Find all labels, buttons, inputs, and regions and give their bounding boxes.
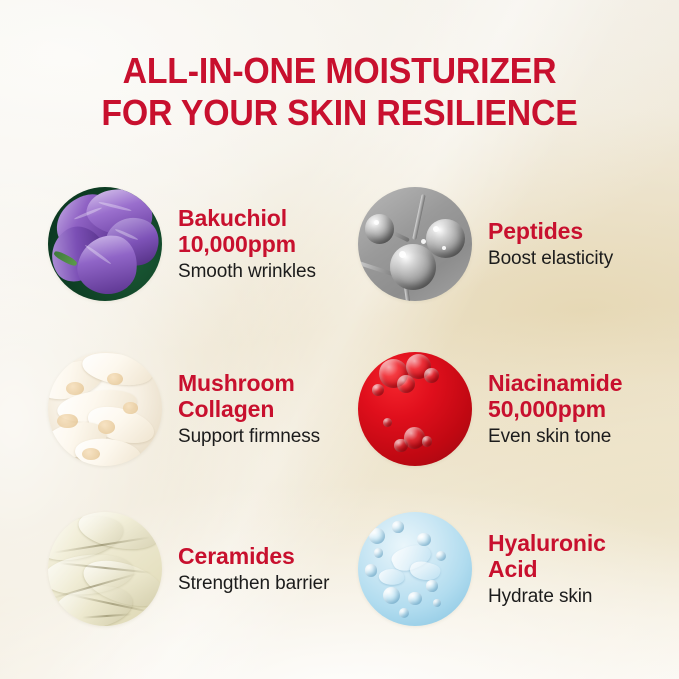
ingredient-item-peptides: Peptides Boost elasticity <box>358 187 613 301</box>
bakuchiol-text-block: Bakuchiol 10,000ppm Smooth wrinkles <box>178 205 316 284</box>
hyaluronic-acid-thumbnail <box>358 512 472 626</box>
ingredient-item-mushroom-collagen: Mushroom Collagen Support firmness <box>48 352 320 466</box>
peptides-text-block: Peptides Boost elasticity <box>488 218 613 271</box>
ingredient-poster: ALL-IN-ONE MOISTURIZER FOR YOUR SKIN RES… <box>0 0 679 679</box>
ingredient-name: Bakuchiol 10,000ppm <box>178 205 316 257</box>
ingredient-benefit: Strengthen barrier <box>178 572 329 596</box>
purple-iris-flower-icon <box>48 187 162 301</box>
molecule-structure-icon <box>358 187 472 301</box>
ingredient-name: Mushroom Collagen <box>178 370 320 422</box>
ingredient-benefit: Even skin tone <box>488 425 622 449</box>
ceramides-thumbnail <box>48 512 162 626</box>
ingredient-item-ceramides: Ceramides Strengthen barrier <box>48 512 329 626</box>
red-liquid-bubbles-icon <box>358 352 472 466</box>
ingredient-name: Hyaluronic Acid <box>488 530 606 582</box>
cream-texture-icon <box>48 512 162 626</box>
ingredient-name: Niacinamide 50,000ppm <box>488 370 622 422</box>
mushroom-collagen-thumbnail <box>48 352 162 466</box>
mushroom-collagen-text-block: Mushroom Collagen Support firmness <box>178 370 320 449</box>
ingredient-item-hyaluronic-acid: Hyaluronic Acid Hydrate skin <box>358 512 606 626</box>
peptides-thumbnail <box>358 187 472 301</box>
ingredient-grid: Bakuchiol 10,000ppm Smooth wrinkles <box>0 0 679 679</box>
ingredient-benefit: Support firmness <box>178 425 320 449</box>
bakuchiol-thumbnail <box>48 187 162 301</box>
blue-gel-bubbles-icon <box>358 512 472 626</box>
ingredient-name: Ceramides <box>178 543 329 569</box>
niacinamide-text-block: Niacinamide 50,000ppm Even skin tone <box>488 370 622 449</box>
hyaluronic-acid-text-block: Hyaluronic Acid Hydrate skin <box>488 530 606 609</box>
ingredient-benefit: Smooth wrinkles <box>178 260 316 284</box>
ceramides-text-block: Ceramides Strengthen barrier <box>178 543 329 596</box>
ingredient-item-niacinamide: Niacinamide 50,000ppm Even skin tone <box>358 352 622 466</box>
ingredient-item-bakuchiol: Bakuchiol 10,000ppm Smooth wrinkles <box>48 187 316 301</box>
ingredient-name: Peptides <box>488 218 613 244</box>
ingredient-benefit: Boost elasticity <box>488 247 613 271</box>
ingredient-benefit: Hydrate skin <box>488 585 606 609</box>
niacinamide-thumbnail <box>358 352 472 466</box>
white-mushroom-texture-icon <box>48 352 162 466</box>
